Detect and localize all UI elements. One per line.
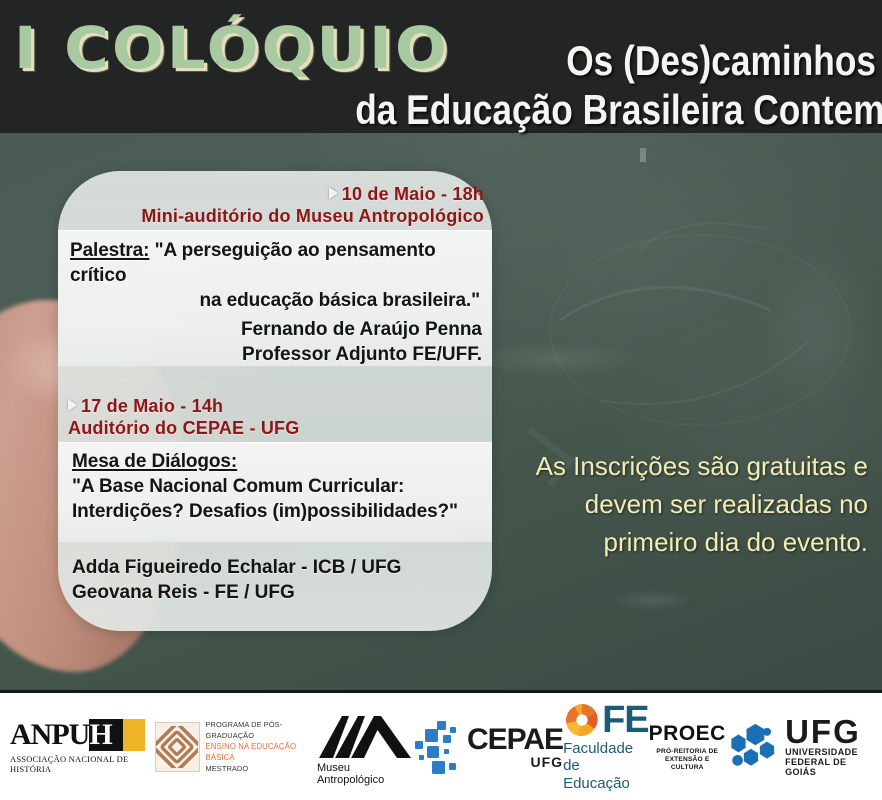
event-2-venue: Auditório do CEPAE - UFG (58, 417, 492, 439)
museu-chevron-icon (317, 708, 413, 760)
event-2-title-line-1: "A Base Nacional Comum Curricular: (58, 474, 492, 499)
cepae-sub: UFG (467, 755, 563, 769)
logo-ufg: UFG UNIVERSIDADE FEDERAL DE GOIÁS (726, 716, 870, 777)
cepae-word: CEPAE (467, 725, 563, 755)
ufg-sub-line-2: FEDERAL DE GOIÁS (785, 757, 870, 777)
logo-cepae-ufg: CEPAE UFG (413, 719, 563, 775)
proec-sub-line-1: PRÓ-REITORIA DE (649, 748, 726, 756)
event-1-venue: Mini-auditório do Museu Antropológico (58, 205, 492, 227)
ppg-line-1: PROGRAMA DE PÓS-GRADUAÇÃO (206, 719, 317, 741)
anpuh-tagline: ASSOCIAÇÃO NACIONAL DE HISTÓRIA (10, 754, 155, 774)
ufg-wordmark: UFG UNIVERSIDADE FEDERAL DE GOIÁS (785, 716, 870, 777)
registration-note-line-2: devem ser realizadas no (496, 485, 868, 523)
event-2-speaker-line-2: Geovana Reis - FE / UFG (58, 580, 492, 605)
logo-proec: PROEC PRÓ-REITORIA DE EXTENSÃO E CULTURA (649, 722, 726, 772)
fe-sub-line-1: Faculdade de (563, 740, 649, 774)
event-2-date: 17 de Maio - 14h (81, 396, 223, 416)
anpuh-word-1: ANPU (10, 719, 89, 751)
proec-sub-line-2: EXTENSÃO E CULTURA (649, 756, 726, 772)
event-1-title-line-2: na educação básica brasileira." (58, 288, 492, 313)
anpuh-word-2: H (89, 719, 122, 751)
subtitle-group: Os (Des)caminhos da Educação Brasileira … (256, 38, 876, 134)
event-1-speaker-line-2: Professor Adjunto FE/UFF. (58, 342, 492, 367)
proec-sub: PRÓ-REITORIA DE EXTENSÃO E CULTURA (649, 748, 726, 772)
fe-word: FE (602, 703, 649, 737)
registration-note-line-3: primeiro dia do evento. (496, 523, 868, 561)
event-1-title-line-1-row: Palestra: "A perseguição ao pensamento c… (58, 231, 492, 288)
event-1-speaker-line-1: Fernando de Araújo Penna (58, 317, 492, 342)
anpuh-wordmark: ANPU H (10, 719, 145, 751)
logo-museu-antropologico: Museu Antropológico (317, 708, 413, 786)
event-2-label: Mesa de Diálogos: (72, 451, 237, 472)
ufg-word: UFG (785, 716, 870, 747)
registration-note: As Inscrições são gratuitas e devem ser … (496, 447, 868, 561)
ppg-line-2: ENSINO NA EDUCAÇÃO BÁSICA (206, 741, 317, 763)
ppg-diamond-icon (155, 722, 200, 772)
registration-note-line-1: As Inscrições são gratuitas e (496, 447, 868, 485)
logo-faculdade-educacao: FE Faculdade de Educação (563, 701, 649, 792)
fe-block: FE Faculdade de Educação (563, 701, 649, 792)
event-2-speaker-line-1: Adda Figueiredo Echalar - ICB / UFG (58, 555, 492, 580)
event-2-panel: Mesa de Diálogos: "A Base Nacional Comum… (58, 442, 492, 542)
subtitle-line-1: Os (Des)caminhos (355, 38, 876, 84)
fe-sub-line-2: Educação (563, 775, 649, 792)
event-2-title-line-2: Interdições? Desafios (im)possibilidades… (58, 499, 492, 524)
proec-word: PROEC (649, 722, 726, 746)
event-1-date: 10 de Maio - 18h (342, 184, 484, 204)
schedule-card: 10 de Maio - 18h Mini-auditório do Museu… (58, 171, 492, 631)
subtitle-line-2: da Educação Brasileira Contemporânea (355, 86, 876, 134)
event-1-label: Palestra: (70, 240, 149, 261)
ppg-line-3: MESTRADO (206, 763, 317, 774)
fe-top-row: FE (563, 701, 649, 739)
cepae-dots-icon (413, 719, 465, 775)
ufg-hexagons-icon (726, 719, 781, 775)
logo-anpuh: ANPU H ASSOCIAÇÃO NACIONAL DE HISTÓRIA (10, 719, 155, 774)
event-2-label-row: Mesa de Diálogos: (58, 443, 492, 474)
event-2-date-row: 17 de Maio - 14h (58, 395, 492, 417)
poster-root: I COLÓQUIO Os (Des)caminhos da Educação … (0, 0, 882, 800)
logo-ppg-ensino: PROGRAMA DE PÓS-GRADUAÇÃO ENSINO NA EDUC… (155, 719, 317, 774)
ppg-text-block: PROGRAMA DE PÓS-GRADUAÇÃO ENSINO NA EDUC… (206, 719, 317, 774)
ufg-sub-line-1: UNIVERSIDADE (785, 747, 870, 757)
triangle-bullet-icon (329, 187, 338, 199)
cepae-wordmark: CEPAE UFG (467, 725, 563, 769)
anpuh-gold-block (123, 719, 145, 751)
triangle-bullet-icon (68, 399, 77, 411)
fe-pinwheel-icon (563, 701, 601, 739)
event-1-date-row: 10 de Maio - 18h (58, 183, 492, 205)
museu-caption: Museu Antropológico (317, 762, 413, 786)
sponsor-logo-bar: ANPU H ASSOCIAÇÃO NACIONAL DE HISTÓRIA (0, 690, 882, 800)
